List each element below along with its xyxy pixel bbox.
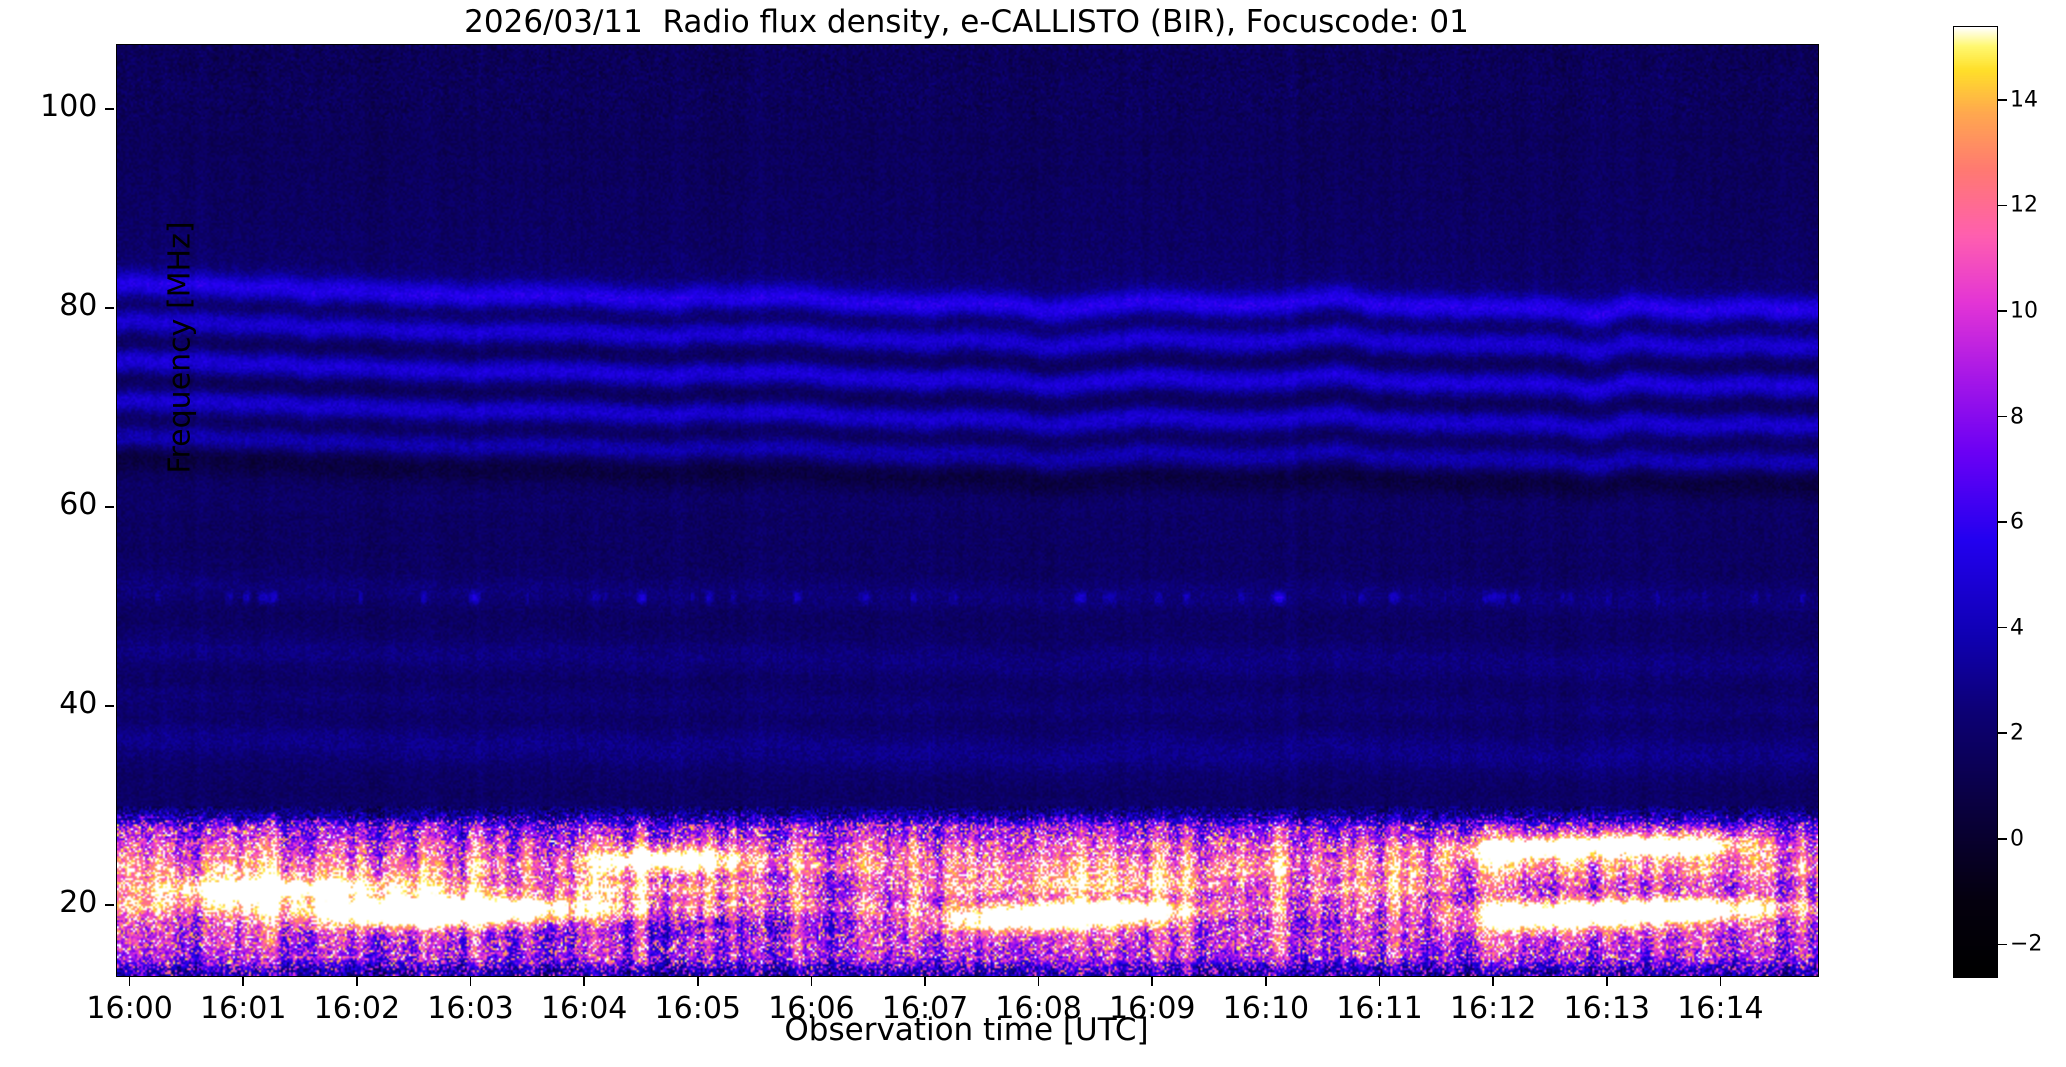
colorbar-tick-mark [1998,944,2007,946]
figure-canvas: 2026/03/11 Radio flux density, e-CALLIST… [0,0,2066,1067]
x-axis-label: Observation time [UTC] [116,1012,1817,1048]
y-axis-tick-mark [105,108,114,110]
colorbar-tick-label: 12 [2010,193,2038,218]
colorbar-tick-label: 4 [2010,615,2024,640]
colorbar-gradient [1954,27,1997,977]
x-axis-tick-mark [583,977,585,986]
x-axis-tick-mark [1492,977,1494,986]
colorbar-tick-mark [1998,521,2007,523]
y-axis-label: Frequency [MHz] [163,128,198,568]
colorbar-tick-label: 10 [2010,299,2038,324]
colorbar-tick-mark [1998,310,2007,312]
spectrogram-axes[interactable] [116,44,1819,977]
colorbar-tick-label: 14 [2010,87,2038,112]
colorbar-tick-mark [1998,205,2007,207]
x-axis-tick-mark [242,977,244,986]
y-axis-tick-label: 20 [17,885,97,920]
colorbar-tick-mark [1998,627,2007,629]
x-axis-tick-mark [1265,977,1267,986]
x-axis-tick-mark [1151,977,1153,986]
colorbar-tick-mark [1998,416,2007,418]
colorbar[interactable] [1953,26,1998,978]
y-axis-tick-label: 40 [17,686,97,721]
x-axis-tick-mark [1606,977,1608,986]
x-axis-tick-mark [697,977,699,986]
x-axis-tick-mark [356,977,358,986]
x-axis-tick-mark [1379,977,1381,986]
x-axis-tick-mark [924,977,926,986]
colorbar-tick-label: 2 [2010,721,2024,746]
y-axis-tick-label: 60 [17,487,97,522]
y-axis-tick-mark [105,307,114,309]
y-axis-tick-label: 100 [17,89,97,124]
colorbar-tick-label: 6 [2010,510,2024,535]
x-axis-tick-mark [470,977,472,986]
colorbar-tick-label: 8 [2010,404,2024,429]
y-axis-tick-mark [105,904,114,906]
page-title: 2026/03/11 Radio flux density, e-CALLIST… [116,2,1817,42]
x-axis-tick-mark [811,977,813,986]
colorbar-tick-mark [1998,838,2007,840]
y-axis-tick-mark [105,506,114,508]
x-axis-tick-mark [1038,977,1040,986]
spectrogram-image [117,45,1818,976]
colorbar-tick-label: 0 [2010,826,2024,851]
colorbar-tick-label: −2 [2010,932,2042,957]
y-axis-tick-label: 80 [17,288,97,323]
colorbar-tick-mark [1998,99,2007,101]
y-axis-tick-mark [105,705,114,707]
x-axis-tick-mark [1720,977,1722,986]
colorbar-tick-mark [1998,732,2007,734]
x-axis-tick-mark [129,977,131,986]
